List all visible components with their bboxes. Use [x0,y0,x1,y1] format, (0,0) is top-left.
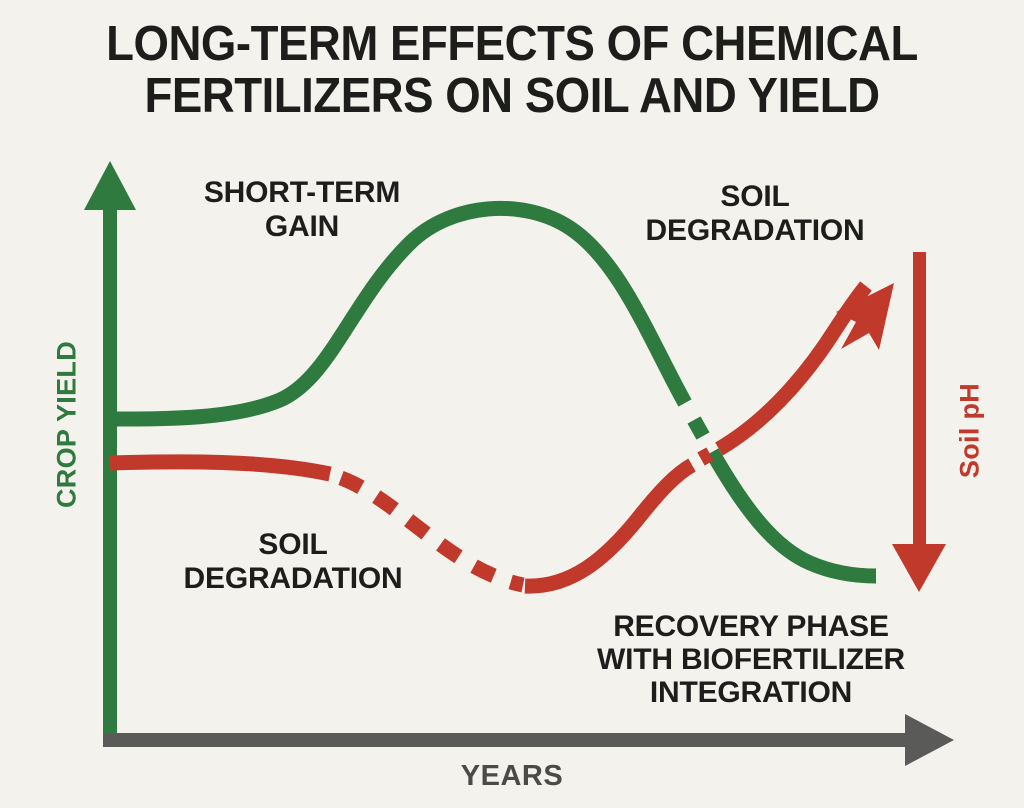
y-axis-label-soil-ph: Soil pH [955,351,986,511]
infographic-canvas: LONG-TERM EFFECTS OF CHEMICAL FERTILIZER… [0,0,1024,808]
annotation-soil-degradation-top: SOIL DEGRADATION [600,180,910,248]
crop-yield-curve [110,208,876,576]
soil-ph-axis [892,252,946,592]
annotation-recovery-phase: RECOVERY PHASE WITH BIOFERTILIZER INTEGR… [564,610,938,709]
y-axis-crop-yield [84,161,136,740]
annotation-soil-degradation-left: SOIL DEGRADATION [133,528,453,596]
y-axis-label-crop-yield: CROP YIELD [52,305,83,545]
x-axis-label-years: YEARS [312,760,712,793]
annotation-short-term-gain: SHORT-TERM GAIN [152,176,452,244]
x-axis-years [103,714,954,766]
